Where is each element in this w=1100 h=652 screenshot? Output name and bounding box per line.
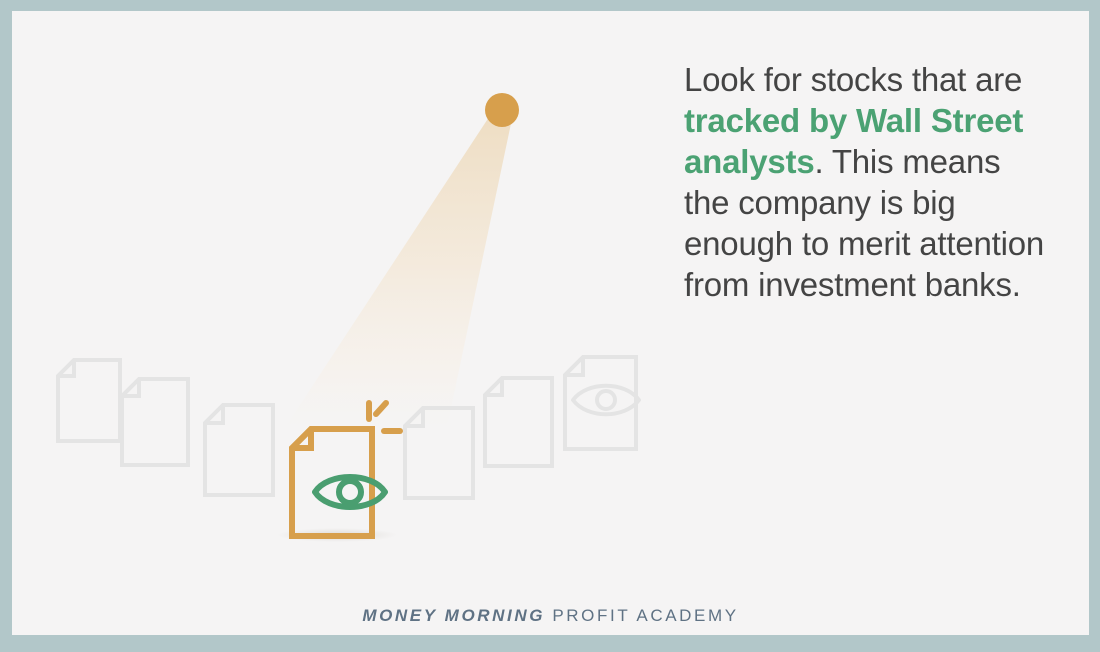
spotlight-documents-illustration — [12, 11, 692, 571]
copy-highlight-1: tracked by Wall — [684, 102, 922, 139]
ghost-document-1 — [58, 360, 120, 441]
footer-subtitle: PROFIT ACADEMY — [545, 606, 739, 625]
headline-copy: Look for stocks that are tracked by Wall… — [684, 59, 1054, 305]
copy-line-2-prefix: are — [975, 61, 1022, 98]
footer-branding: MONEY MORNING PROFIT ACADEMY — [12, 606, 1089, 626]
ghost-document-2 — [122, 379, 188, 465]
ghost-document-3 — [205, 405, 273, 495]
slide-frame: Look for stocks that are tracked by Wall… — [0, 0, 1100, 652]
copy-line-3-suffix: . This — [814, 143, 893, 180]
copy-line-1: Look for stocks that — [684, 61, 966, 98]
spotlight-dot — [485, 93, 519, 127]
copy-line-7: investment banks. — [758, 266, 1021, 303]
footer-brand: MONEY MORNING — [362, 606, 545, 625]
ghost-document-5 — [485, 378, 552, 466]
slide-card: Look for stocks that are tracked by Wall… — [12, 11, 1089, 635]
ghost-eye-icon — [573, 386, 639, 415]
spotlight-beam — [273, 114, 513, 446]
